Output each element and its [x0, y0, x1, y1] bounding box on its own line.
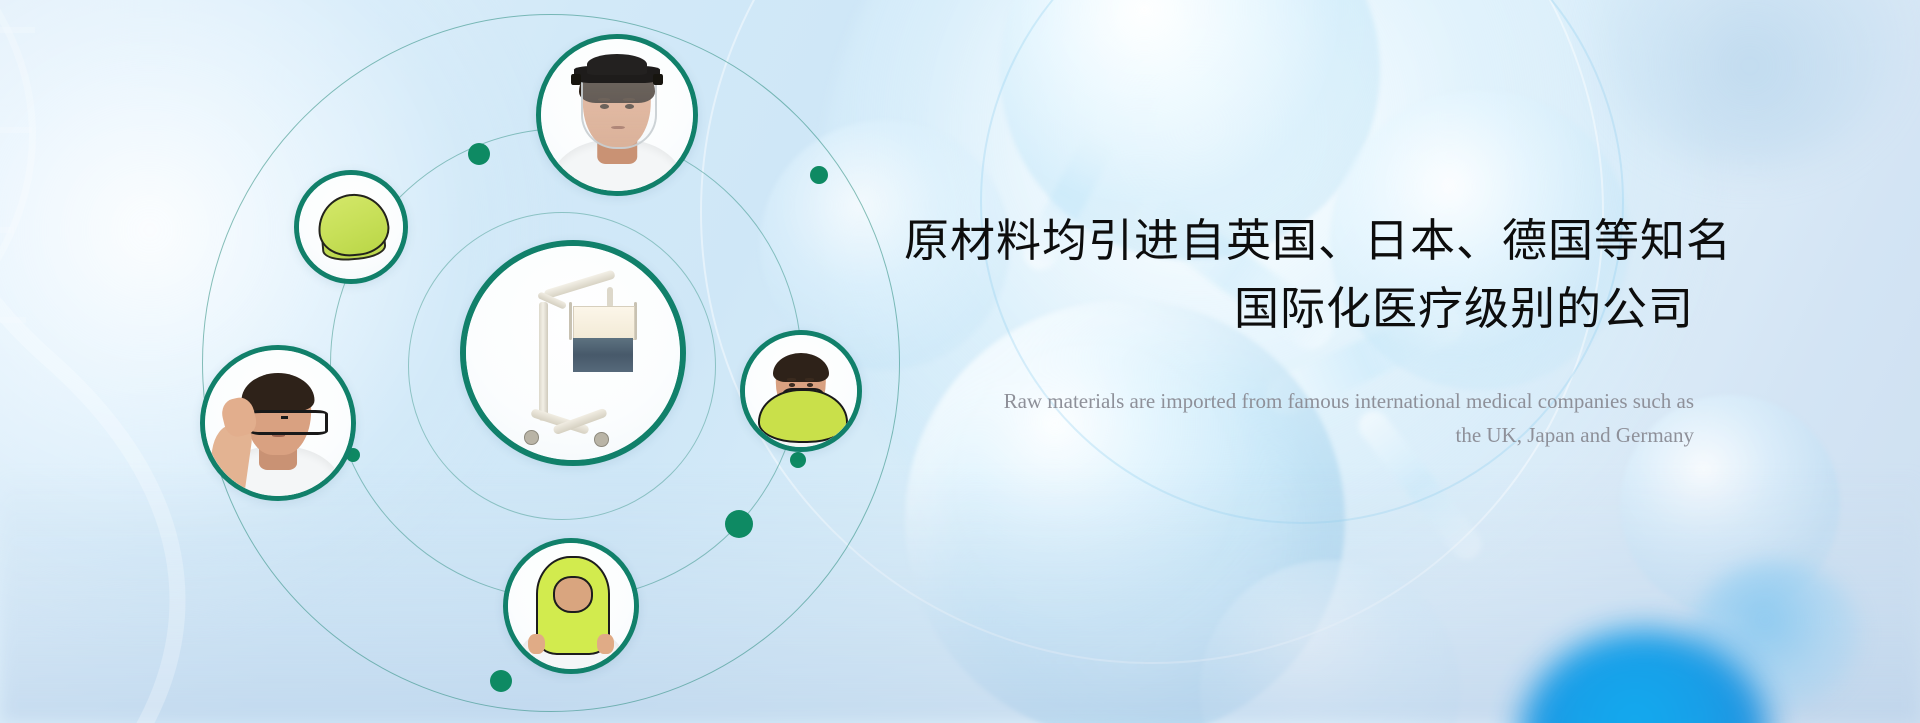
subtitle-line-2: the UK, Japan and Germany [904, 418, 1694, 452]
headline-line-1: 原材料均引进自英国、日本、德国等知名 [904, 210, 1694, 272]
bubble-face-shield[interactable] [536, 34, 698, 196]
bubble-mobile-shield-stand[interactable] [460, 240, 686, 466]
bubble-lead-glasses[interactable] [200, 345, 356, 501]
photo-mobile-radiation-shield [466, 246, 680, 460]
orbit-dot-b [810, 166, 828, 184]
subtitle-english: Raw materials are imported from famous i… [904, 384, 1694, 452]
orbit-dot-c [790, 452, 806, 468]
photo-woman-thyroid-collar [745, 335, 857, 447]
hero-text-block: 原材料均引进自英国、日本、德国等知名 国际化医疗级别的公司 Raw materi… [904, 210, 1694, 452]
bubble-lead-cap[interactable] [294, 170, 408, 284]
subtitle-line-1: Raw materials are imported from famous i… [904, 384, 1694, 418]
molecule-sphere-f [1200, 560, 1460, 723]
orbit-dot-a [468, 143, 490, 165]
photo-man-lead-glasses [205, 350, 351, 496]
photo-woman-lead-hood [508, 543, 634, 669]
background-blob-top-right [1600, 0, 1900, 170]
photo-man-face-shield [541, 39, 693, 191]
bubble-thyroid-collar[interactable] [740, 330, 862, 452]
background-blob-accent-blue [1520, 630, 1770, 723]
orbit-dot-d [725, 510, 753, 538]
headline-line-2: 国际化医疗级别的公司 [904, 278, 1694, 340]
photo-lead-cap [299, 175, 403, 279]
bubble-lead-hood[interactable] [503, 538, 639, 674]
background-blob-soft-blue [1690, 560, 1860, 710]
orbit-dot-f [490, 670, 512, 692]
hero-banner: 原材料均引进自英国、日本、德国等知名 国际化医疗级别的公司 Raw materi… [0, 0, 1920, 723]
